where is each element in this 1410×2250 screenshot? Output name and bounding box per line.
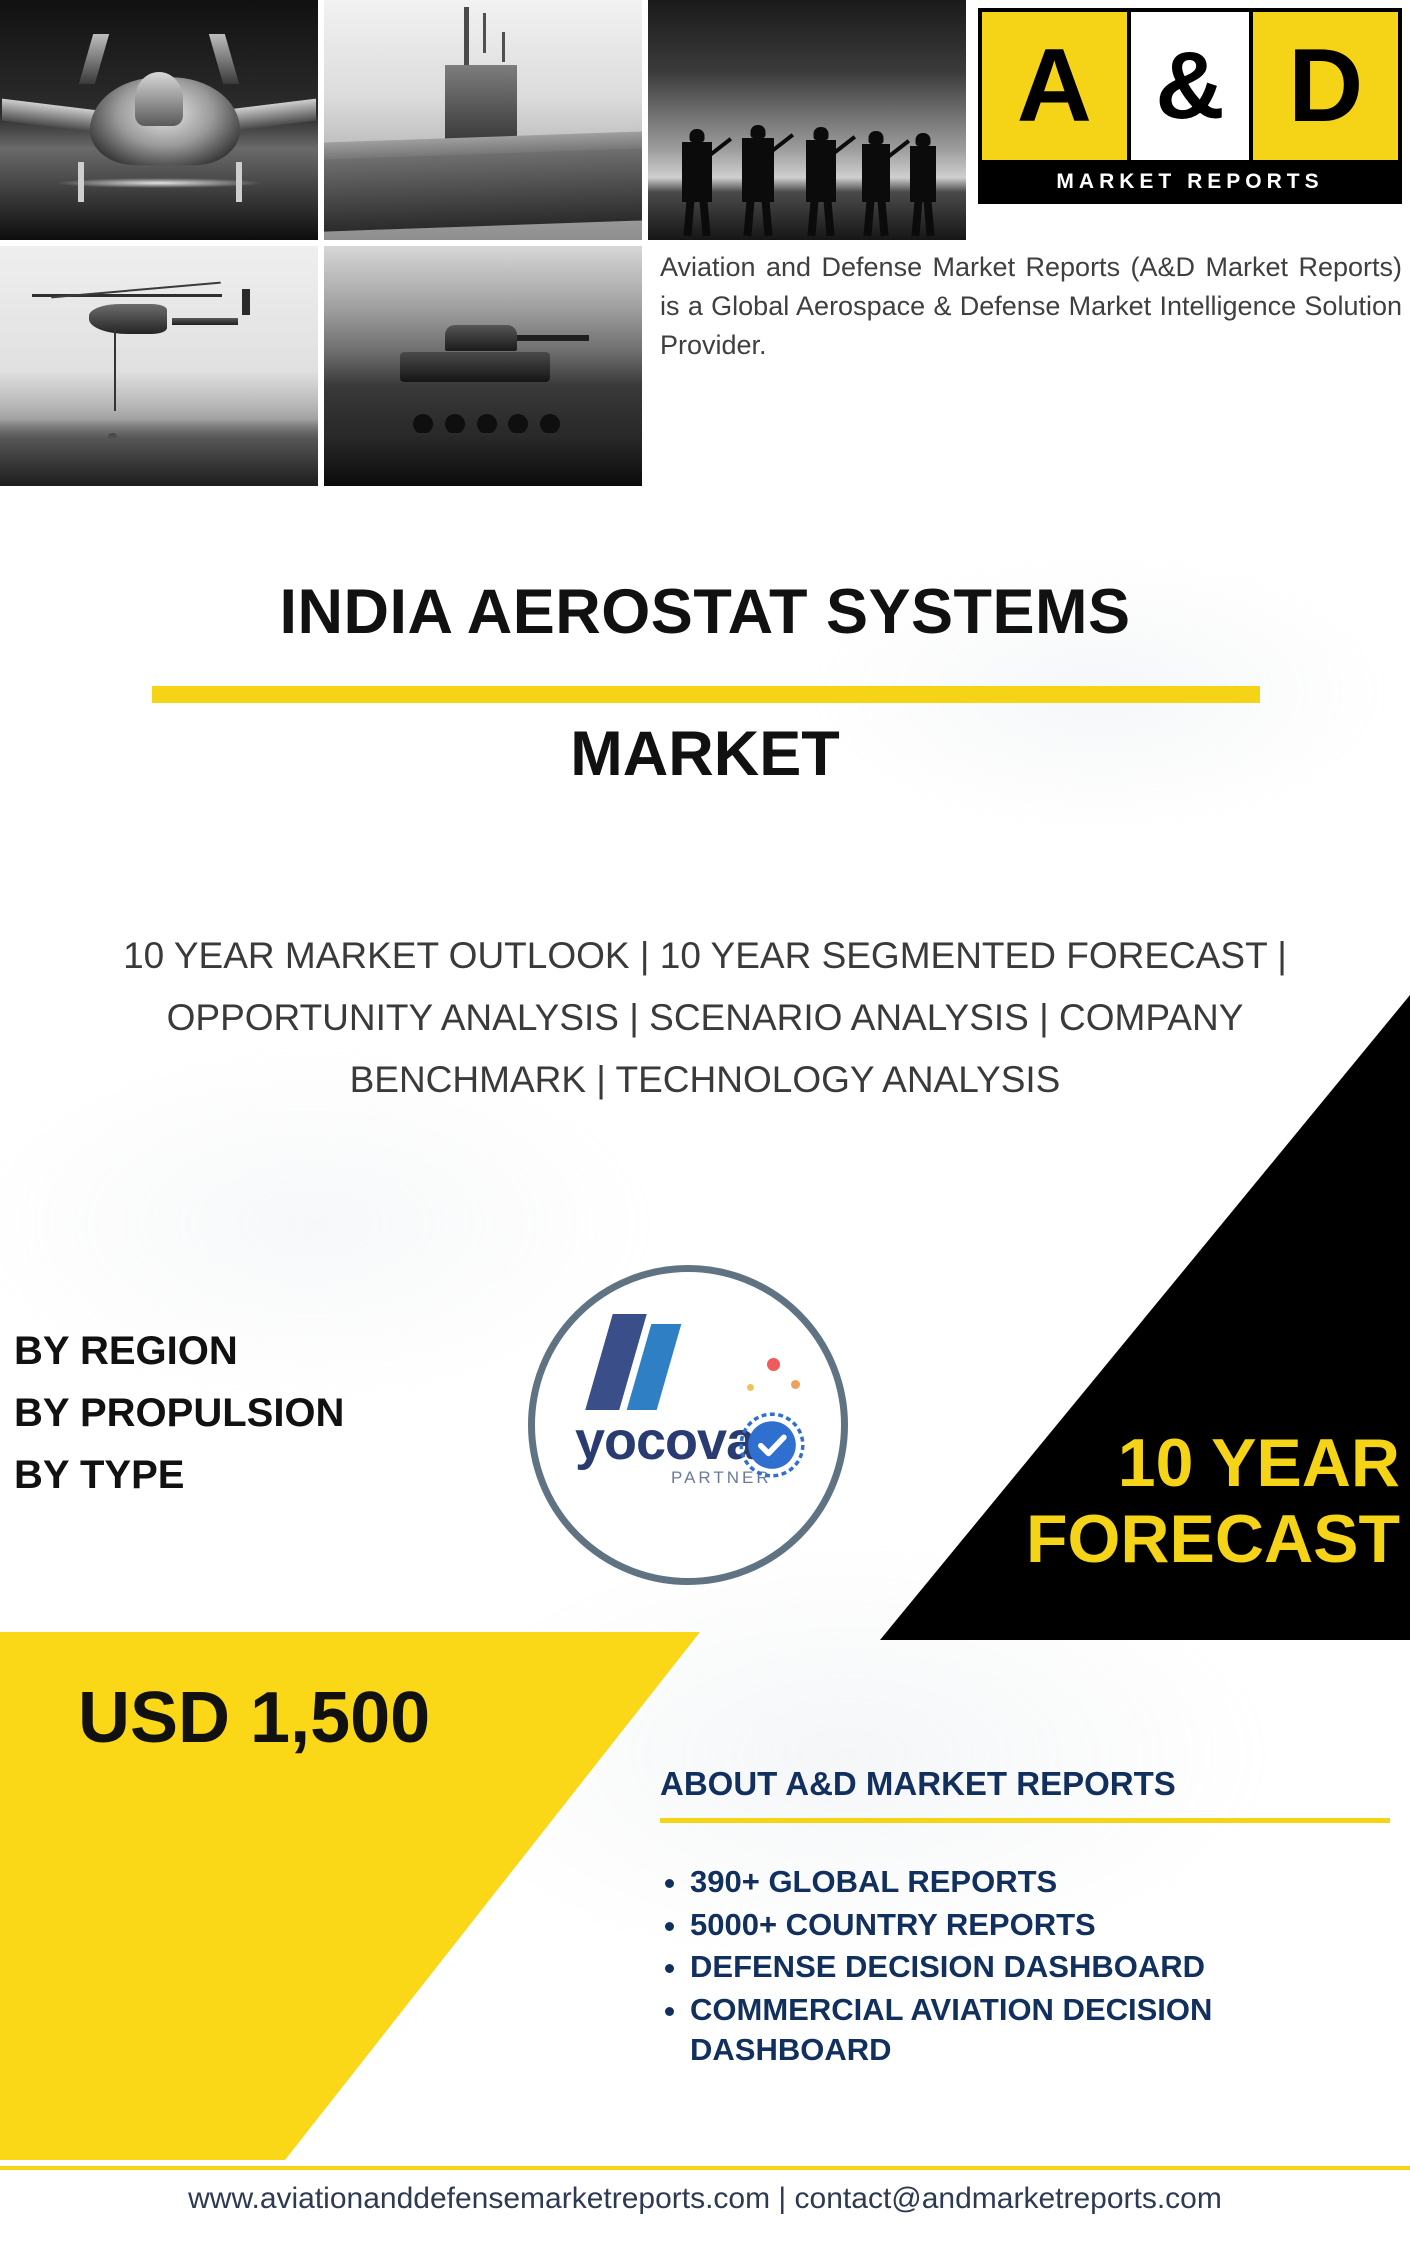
fighter-jet-photo: [0, 0, 318, 240]
about-underline-rule: [660, 1818, 1390, 1823]
yocova-dot-red: [767, 1358, 780, 1371]
aircraft-carrier-photo: [324, 0, 642, 240]
forecast-callout: 10 YEAR FORECAST: [880, 1425, 1400, 1577]
company-intro-text: Aviation and Defense Market Reports (A&D…: [660, 248, 1402, 365]
logo-letter-d-cell: D: [1253, 12, 1398, 160]
report-scope-subtitle: 10 YEAR MARKET OUTLOOK | 10 YEAR SEGMENT…: [55, 925, 1355, 1110]
yocova-wordmark: yocova: [575, 1410, 755, 1472]
about-list-item: 5000+ COUNTRY REPORTS: [690, 1905, 1410, 1945]
segment-item-propulsion: BY PROPULSION: [14, 1382, 344, 1444]
yocova-dot-yellow: [747, 1384, 754, 1391]
price-label: USD 1,500: [78, 1677, 430, 1759]
footer-contact-text: www.aviationanddefensemarketreports.com …: [0, 2182, 1410, 2216]
about-list-item: 390+ GLOBAL REPORTS: [690, 1862, 1410, 1902]
about-section-title: ABOUT A&D MARKET REPORTS: [660, 1765, 1400, 1803]
about-list-item: DEFENSE DECISION DASHBOARD: [690, 1947, 1410, 1987]
photo-collage: [0, 0, 965, 485]
logo-subtitle: MARKET REPORTS: [982, 164, 1398, 200]
about-bullet-list: 390+ GLOBAL REPORTS 5000+ COUNTRY REPORT…: [690, 1862, 1410, 2072]
footer-divider: [0, 2166, 1410, 2170]
page-title-line2: MARKET: [0, 718, 1410, 790]
verified-check-icon: [737, 1410, 807, 1480]
forecast-line1: 10 YEAR: [880, 1425, 1400, 1501]
logo-letter-a: A: [1017, 34, 1092, 138]
logo-ampersand: &: [1155, 38, 1224, 134]
yocova-partner-badge: yocova PARTNER: [528, 1265, 848, 1585]
title-underline-rule: [152, 686, 1260, 703]
segment-item-region: BY REGION: [14, 1320, 344, 1382]
brand-logo: A & D MARKET REPORTS: [970, 0, 1410, 212]
forecast-line2: FORECAST: [880, 1501, 1400, 1577]
segmentation-list: BY REGION BY PROPULSION BY TYPE: [14, 1320, 344, 1506]
soldiers-silhouette-photo: [648, 0, 966, 240]
helicopter-photo: [0, 246, 318, 486]
segment-item-type: BY TYPE: [14, 1444, 344, 1506]
about-list-item: COMMERCIAL AVIATION DECISION DASHBOARD: [690, 1990, 1410, 2069]
page-title-line1: INDIA AEROSTAT SYSTEMS: [0, 575, 1410, 649]
logo-ampersand-cell: &: [1131, 12, 1250, 160]
poster-page: A & D MARKET REPORTS Aviation and Defens…: [0, 0, 1410, 2250]
armored-vehicle-photo: [324, 246, 642, 486]
logo-letter-d: D: [1288, 34, 1363, 138]
logo-letter-a-cell: A: [982, 12, 1127, 160]
yocova-dot-orange: [791, 1380, 800, 1389]
